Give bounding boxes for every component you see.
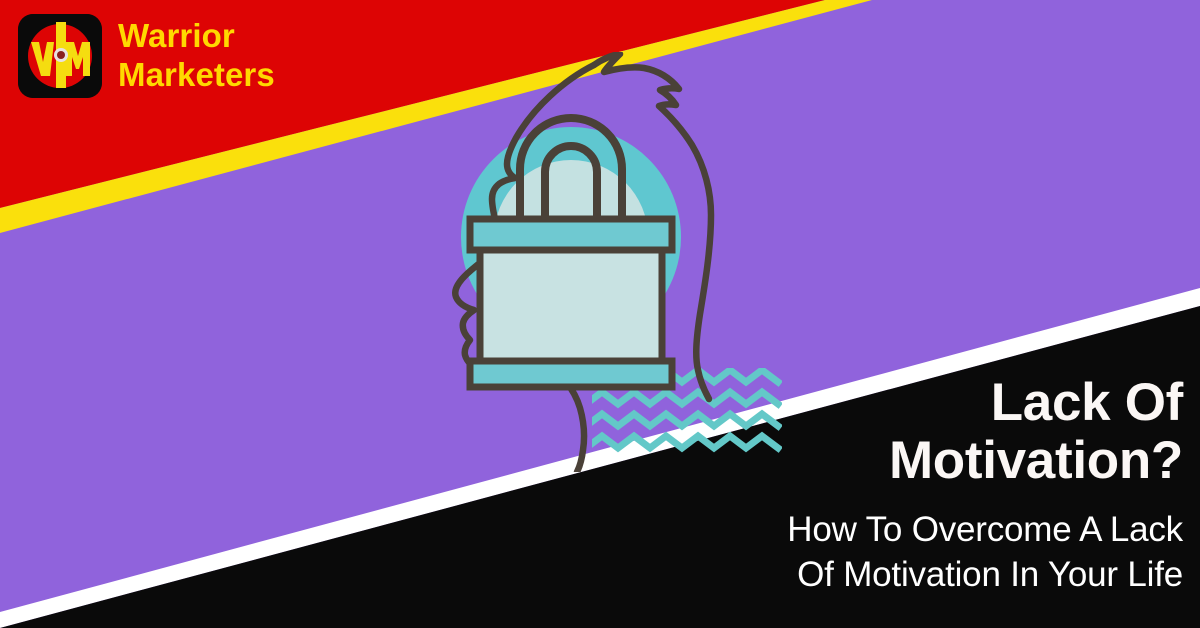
padlock-bottom-band	[470, 361, 672, 387]
logo-emblem-core	[57, 51, 65, 59]
page-subtitle: How To Overcome A Lack Of Motivation In …	[643, 507, 1183, 598]
padlock-body	[480, 250, 662, 361]
brand-lockup[interactable]: Warrior Marketers	[18, 14, 275, 98]
page-title: Lack Of Motivation?	[643, 374, 1183, 490]
social-banner: Warrior Marketers Lack Of Motivation? Ho…	[0, 0, 1200, 628]
padlock-top-band	[470, 219, 672, 250]
headline-block: Lack Of Motivation? How To Overcome A La…	[643, 374, 1183, 598]
warrior-marketers-logo[interactable]	[18, 14, 102, 98]
brand-name: Warrior Marketers	[118, 17, 275, 94]
